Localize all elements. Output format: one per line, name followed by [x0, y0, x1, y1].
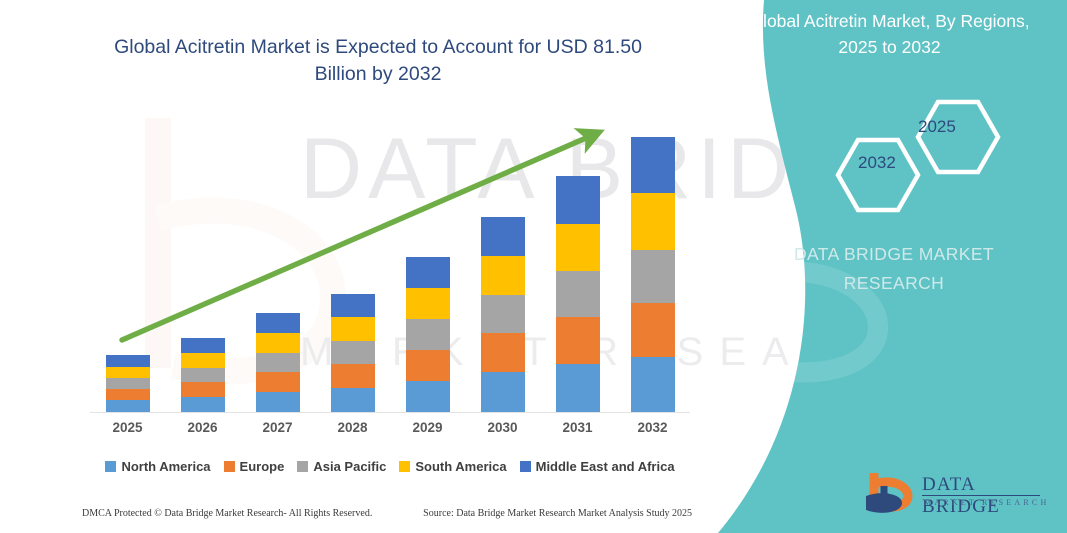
bar-segment [406, 288, 450, 319]
bar-segment [331, 294, 375, 317]
legend-label: Middle East and Africa [536, 459, 675, 474]
x-axis-label: 2028 [331, 420, 375, 435]
hexagon-left-label: 2032 [858, 153, 896, 173]
bar-segment [556, 317, 600, 364]
panel-brand-text: DATA BRIDGE MARKET RESEARCH [744, 240, 1044, 298]
bar-segment [406, 350, 450, 381]
bar-segment [406, 381, 450, 412]
x-axis-label: 2029 [406, 420, 450, 435]
bar-column [556, 176, 600, 412]
bar-segment [481, 217, 525, 256]
bar-segment [631, 357, 675, 412]
x-axis-label: 2027 [256, 420, 300, 435]
bar-segment [106, 355, 150, 367]
bar-segment [481, 372, 525, 412]
x-axis-label: 2031 [556, 420, 600, 435]
bar-segment [406, 257, 450, 288]
panel-title: Global Acitretin Market, By Regions, 202… [722, 8, 1057, 60]
bar-segment [631, 193, 675, 250]
legend-label: Europe [240, 459, 285, 474]
x-axis-label: 2030 [481, 420, 525, 435]
bar-segment [331, 317, 375, 341]
bar-column [481, 217, 525, 412]
bar-column [106, 355, 150, 412]
legend-label: North America [121, 459, 210, 474]
legend-swatch-icon [520, 461, 531, 472]
chart-legend: North AmericaEuropeAsia PacificSouth Ame… [90, 455, 690, 477]
bar-segment [106, 400, 150, 412]
bar-segment [556, 224, 600, 271]
databridge-logo-name: DATA BRIDGE [922, 474, 1057, 518]
panel-title-line1: Global Acitretin Market, By Regions, [722, 8, 1057, 34]
chart-title: Global Acitretin Market is Expected to A… [88, 34, 668, 88]
bar-segment [556, 176, 600, 224]
x-axis-label: 2026 [181, 420, 225, 435]
bar-segment [181, 382, 225, 397]
bar-segment [631, 137, 675, 193]
panel-brand-line1: DATA BRIDGE MARKET [744, 240, 1044, 269]
bar-segment [331, 364, 375, 388]
legend-item[interactable]: Asia Pacific [297, 459, 386, 474]
databridge-logo: DATA BRIDGE MARKET RESEARCH [862, 470, 1057, 520]
x-axis-label: 2032 [631, 420, 675, 435]
bar-segment [556, 364, 600, 412]
bar-segment [256, 333, 300, 353]
bar-column [406, 257, 450, 412]
hexagon-left-shape [838, 140, 918, 210]
bar-segment [481, 295, 525, 333]
stacked-bar-group [90, 110, 690, 412]
bar-segment [181, 397, 225, 412]
bar-segment [256, 353, 300, 372]
legend-label: Asia Pacific [313, 459, 386, 474]
legend-item[interactable]: Middle East and Africa [520, 459, 675, 474]
legend-item[interactable]: South America [399, 459, 506, 474]
legend-label: South America [415, 459, 506, 474]
bar-segment [256, 392, 300, 412]
legend-item[interactable]: Europe [224, 459, 285, 474]
bar-segment [631, 250, 675, 303]
right-panel: Global Acitretin Market, By Regions, 202… [700, 0, 1067, 533]
bar-segment [556, 271, 600, 317]
databridge-logo-mark-icon [862, 470, 918, 518]
chart-plot-area [90, 110, 690, 415]
bar-segment [106, 378, 150, 389]
panel-title-line2: 2025 to 2032 [722, 34, 1057, 60]
bar-column [331, 294, 375, 412]
bar-segment [406, 319, 450, 350]
bar-column [631, 137, 675, 412]
bar-segment [481, 256, 525, 295]
infographic-canvas: DATA BRIDGE MARKET RESEARCH Global Acitr… [0, 0, 1067, 533]
hexagon-right-shape [918, 102, 998, 172]
x-axis-labels: 20252026202720282029203020312032 [90, 420, 690, 446]
bar-segment [181, 338, 225, 353]
bar-segment [631, 303, 675, 357]
footer-copyright: DMCA Protected © Data Bridge Market Rese… [82, 508, 372, 524]
bar-segment [331, 341, 375, 364]
databridge-logo-rule [922, 495, 1040, 496]
legend-swatch-icon [105, 461, 116, 472]
bar-segment [106, 389, 150, 400]
bar-segment [181, 368, 225, 382]
hexagon-right-label: 2025 [918, 117, 956, 137]
bar-segment [481, 333, 525, 372]
footer-source: Source: Data Bridge Market Research Mark… [423, 508, 692, 524]
hexagon-group: 2032 2025 [700, 95, 1067, 215]
bar-column [181, 338, 225, 412]
x-axis-label: 2025 [106, 420, 150, 435]
databridge-logo-tagline: MARKET RESEARCH [924, 498, 1049, 507]
footer-bar: DMCA Protected © Data Bridge Market Rese… [82, 508, 692, 524]
legend-item[interactable]: North America [105, 459, 210, 474]
panel-brand-line2: RESEARCH [744, 269, 1044, 298]
legend-swatch-icon [297, 461, 308, 472]
bar-segment [256, 313, 300, 333]
bar-column [256, 313, 300, 412]
bar-segment [256, 372, 300, 392]
bar-segment [106, 367, 150, 378]
bar-segment [181, 353, 225, 368]
x-axis-line [90, 412, 690, 413]
legend-swatch-icon [399, 461, 410, 472]
legend-swatch-icon [224, 461, 235, 472]
bar-segment [331, 388, 375, 412]
